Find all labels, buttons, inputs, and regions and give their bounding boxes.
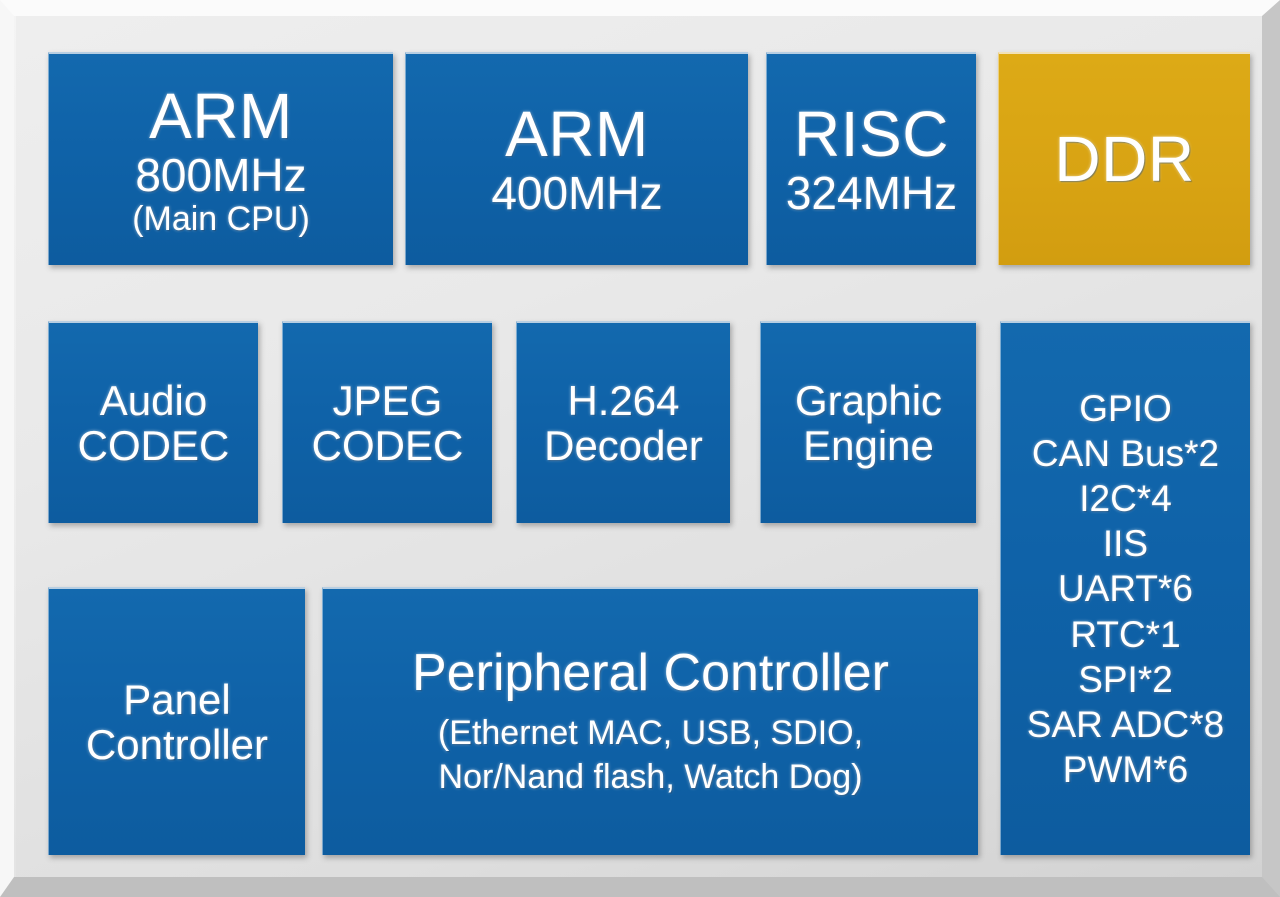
block-graphic-engine-title: Graphic — [795, 378, 942, 423]
io-interface-i2c: I2C*4 — [1079, 476, 1172, 521]
block-arm-800mhz-title: ARM — [149, 82, 293, 151]
block-peripheral-controller-details: (Ethernet MAC, USB, SDIO, Nor/Nand flash… — [438, 711, 863, 799]
block-arm-400mhz-clock: 400MHz — [491, 169, 662, 219]
block-arm-800mhz-clock: 800MHz — [135, 151, 306, 201]
block-peripheral-controller-detail-line-1: (Ethernet MAC, USB, SDIO, — [438, 711, 863, 755]
io-interface-sar-adc: SAR ADC*8 — [1027, 702, 1224, 747]
block-jpeg-codec-subtitle: CODEC — [312, 423, 464, 468]
block-h264-decoder-title: H.264 — [567, 378, 679, 423]
block-peripheral-controller-detail-line-2: Nor/Nand flash, Watch Dog) — [438, 755, 863, 799]
block-ddr-memory[interactable]: DDR — [998, 52, 1250, 265]
block-panel-controller[interactable]: Panel Controller — [48, 587, 305, 855]
block-peripheral-controller-title: Peripheral Controller — [412, 645, 889, 701]
block-arm-800mhz-role: (Main CPU) — [132, 201, 310, 238]
block-jpeg-codec[interactable]: JPEG CODEC — [282, 321, 492, 523]
io-interface-pwm: PWM*6 — [1063, 747, 1188, 792]
io-interface-gpio: GPIO — [1079, 386, 1172, 431]
block-ddr-title: DDR — [1054, 125, 1194, 194]
block-h264-decoder[interactable]: H.264 Decoder — [516, 321, 730, 523]
block-audio-codec[interactable]: Audio CODEC — [48, 321, 258, 523]
block-panel-controller-subtitle: Controller — [86, 722, 268, 767]
block-jpeg-codec-title: JPEG — [333, 378, 443, 423]
block-arm-400mhz[interactable]: ARM 400MHz — [405, 52, 748, 265]
block-panel-controller-title: Panel — [123, 677, 230, 722]
io-interface-can-bus: CAN Bus*2 — [1032, 431, 1219, 476]
block-arm-400mhz-title: ARM — [505, 100, 649, 169]
block-io-interfaces[interactable]: GPIO CAN Bus*2 I2C*4 IIS UART*6 RTC*1 SP… — [1000, 321, 1250, 855]
block-audio-codec-title: Audio — [100, 378, 207, 423]
block-graphic-engine[interactable]: Graphic Engine — [760, 321, 976, 523]
block-graphic-engine-subtitle: Engine — [803, 423, 934, 468]
io-interface-spi: SPI*2 — [1078, 657, 1173, 702]
block-peripheral-controller[interactable]: Peripheral Controller (Ethernet MAC, USB… — [322, 587, 978, 855]
block-arm-800mhz[interactable]: ARM 800MHz (Main CPU) — [48, 52, 393, 265]
block-h264-decoder-subtitle: Decoder — [544, 423, 703, 468]
io-interface-iis: IIS — [1103, 521, 1148, 566]
soc-block-diagram: ARM 800MHz (Main CPU) ARM 400MHz RISC 32… — [0, 0, 1280, 897]
block-audio-codec-subtitle: CODEC — [78, 423, 230, 468]
io-interface-uart: UART*6 — [1058, 566, 1193, 611]
block-risc-324mhz-title: RISC — [794, 100, 949, 169]
block-risc-324mhz-clock: 324MHz — [786, 169, 957, 219]
io-interface-rtc: RTC*1 — [1070, 612, 1180, 657]
block-risc-324mhz[interactable]: RISC 324MHz — [766, 52, 976, 265]
